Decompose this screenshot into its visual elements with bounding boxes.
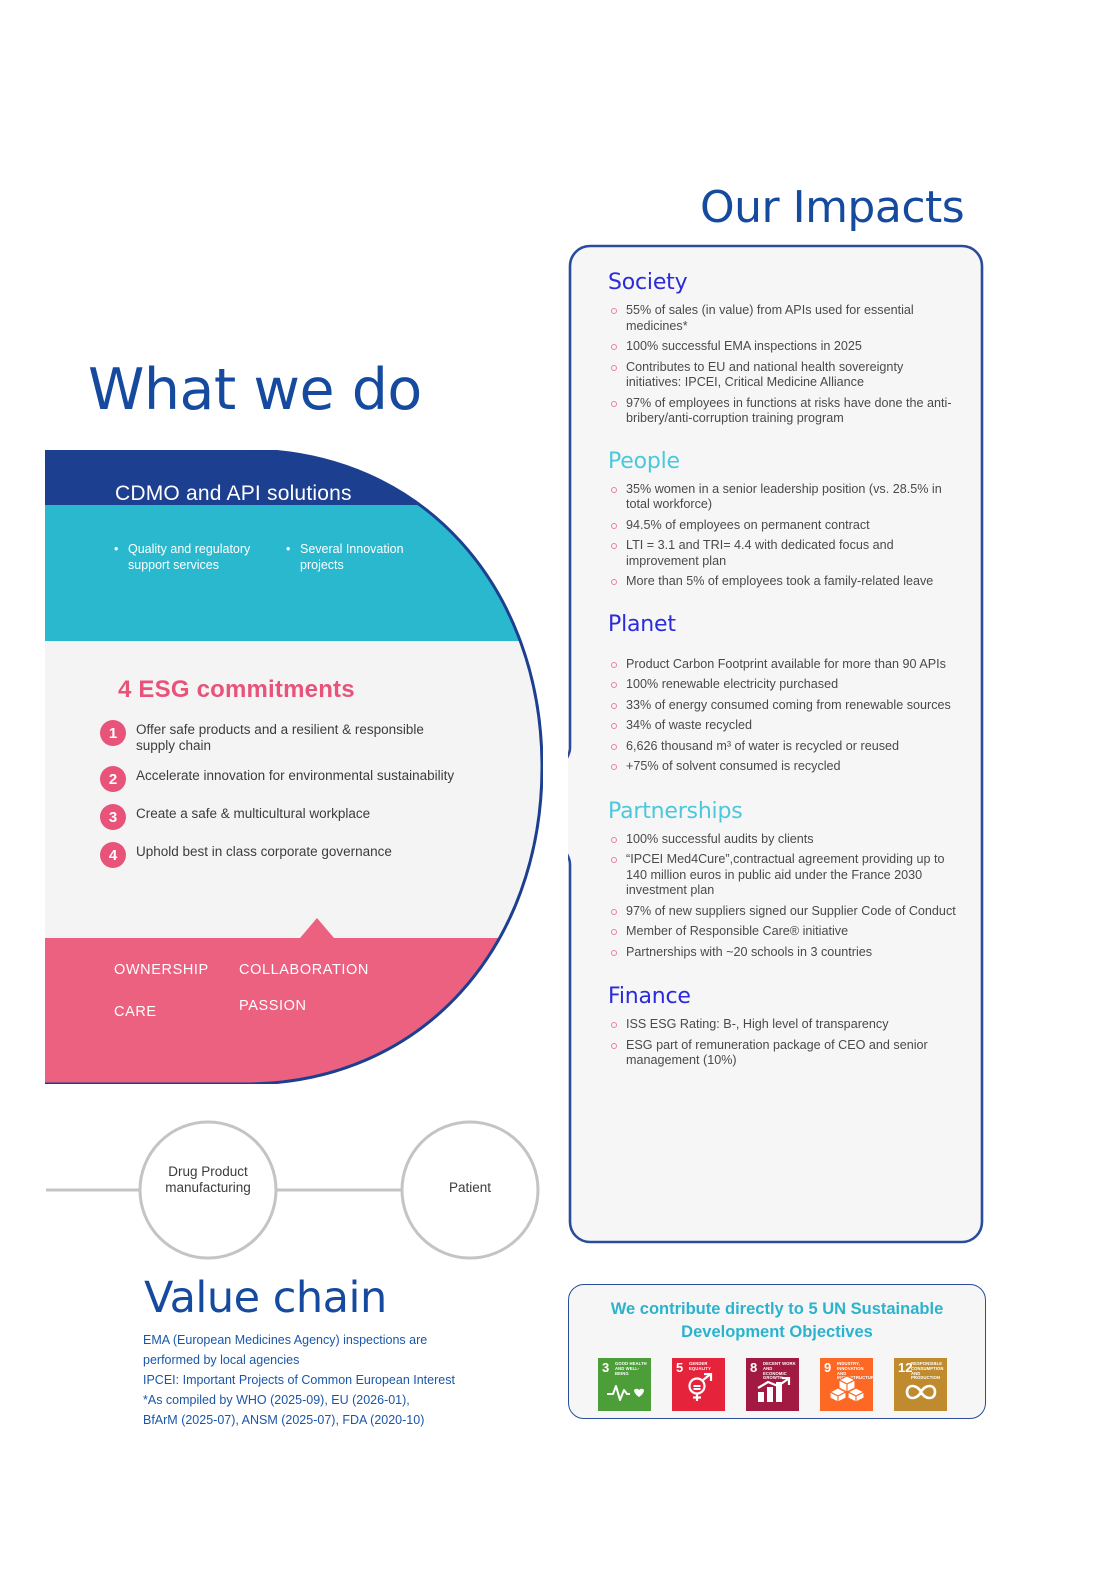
sdg-label: RESPONSIBLE CONSUMPTION AND PRODUCTION xyxy=(911,1362,945,1381)
list-item: Partnerships with ~20 schools in 3 count… xyxy=(608,945,960,961)
list-item: Member of Responsible Care® initiative xyxy=(608,924,960,940)
sdg-tile-12[interactable]: 12 RESPONSIBLE CONSUMPTION AND PRODUCTIO… xyxy=(894,1358,947,1411)
list-item: Product Carbon Footprint available for m… xyxy=(608,657,960,673)
footnote-line-4: *As compiled by WHO (2025-09), EU (2026-… xyxy=(143,1390,563,1410)
impact-section-people-heading: People xyxy=(608,449,960,474)
impact-section-finance-list: ISS ESG Rating: B-, High level of transp… xyxy=(608,1017,960,1069)
impact-section-people: People 35% women in a senior leadership … xyxy=(608,449,960,590)
list-item: ISS ESG Rating: B-, High level of transp… xyxy=(608,1017,960,1033)
esg-item-3-label: Create a safe & multicultural workplace xyxy=(136,804,370,822)
list-item: 94.5% of employees on permanent contract xyxy=(608,518,960,534)
shape-teal-band xyxy=(45,505,543,641)
list-item: More than 5% of employees took a family-… xyxy=(608,574,960,590)
footnote-line-3: IPCEI: Important Projects of Common Euro… xyxy=(143,1370,563,1390)
impact-section-society-list: 55% of sales (in value) from APIs used f… xyxy=(608,303,960,427)
esg-item-2: 2 Accelerate innovation for environmenta… xyxy=(100,766,460,792)
list-item: 55% of sales (in value) from APIs used f… xyxy=(608,303,960,334)
list-item: +75% of solvent consumed is recycled xyxy=(608,759,960,775)
impact-section-planet-list: Product Carbon Footprint available for m… xyxy=(608,657,960,775)
footnote-line-2: performed by local agencies xyxy=(143,1350,563,1370)
esg-commitments-block: 4 ESG commitments 1 Offer safe products … xyxy=(100,676,460,880)
footnote-line-1: EMA (European Medicines Agency) inspecti… xyxy=(143,1330,563,1350)
page-title-value-chain: Value chain xyxy=(144,1272,387,1324)
impact-section-partnerships-heading: Partnerships xyxy=(608,799,960,824)
esg-item-3: 3 Create a safe & multicultural workplac… xyxy=(100,804,460,830)
esg-number-badge: 3 xyxy=(100,804,126,830)
footnotes: EMA (European Medicines Agency) inspecti… xyxy=(143,1330,563,1430)
esg-heading: 4 ESG commitments xyxy=(118,676,460,704)
sdg-panel-title: We contribute directly to 5 UN Sustainab… xyxy=(590,1298,964,1344)
footnote-line-5: BfArM (2025-07), ANSM (2025-07), FDA (20… xyxy=(143,1410,563,1430)
value-word-care: CARE xyxy=(114,1004,157,1020)
impacts-content: Society 55% of sales (in value) from API… xyxy=(608,270,960,1087)
list-item: “IPCEI Med4Cure”,contractual agreement p… xyxy=(608,852,960,899)
list-item: ESG part of remuneration package of CEO … xyxy=(608,1038,960,1069)
list-item: 97% of new suppliers signed our Supplier… xyxy=(608,904,960,920)
page-title-our-impacts: Our Impacts xyxy=(700,182,964,234)
cdmo-bullet-2: • Several Innovation projects xyxy=(300,541,430,573)
cdmo-title: CDMO and API solutions xyxy=(115,482,352,506)
value-chain-node-patient-label: Patient xyxy=(410,1180,530,1196)
list-item: LTI = 3.1 and TRI= 4.4 with dedicated fo… xyxy=(608,538,960,569)
list-item: 100% successful EMA inspections in 2025 xyxy=(608,339,960,355)
value-chain-node-drug-product-label: Drug Product manufacturing xyxy=(148,1164,268,1196)
esg-number-badge: 1 xyxy=(100,720,126,746)
esg-number-badge: 2 xyxy=(100,766,126,792)
sdg-tile-3[interactable]: 3 GOOD HEALTH AND WELL-BEING xyxy=(598,1358,651,1411)
impact-section-planet-heading: Planet xyxy=(608,612,960,637)
list-item: Contributes to EU and national health so… xyxy=(608,360,960,391)
impact-section-planet: Planet Product Carbon Footprint availabl… xyxy=(608,612,960,775)
value-word-passion: PASSION xyxy=(239,998,307,1014)
growth-chart-icon xyxy=(746,1377,799,1408)
sdg-number: 9 xyxy=(824,1361,831,1374)
infinity-icon xyxy=(894,1381,947,1408)
sdg-tiles: 3 GOOD HEALTH AND WELL-BEING 5 GENDER EQ… xyxy=(598,1358,947,1411)
impact-section-people-list: 35% women in a senior leadership positio… xyxy=(608,482,960,590)
list-item: 34% of waste recycled xyxy=(608,718,960,734)
cdmo-bullet-1: • Quality and regulatory support service… xyxy=(128,541,278,573)
list-item: 35% women in a senior leadership positio… xyxy=(608,482,960,513)
list-item: 100% successful audits by clients xyxy=(608,832,960,848)
gender-equality-icon xyxy=(672,1373,725,1408)
cubes-icon xyxy=(820,1375,873,1408)
sdg-tile-8[interactable]: 8 DECENT WORK AND ECONOMIC GROWTH xyxy=(746,1358,799,1411)
bullet-dot-icon: • xyxy=(114,541,118,557)
sdg-number: 3 xyxy=(602,1361,609,1374)
esg-item-2-label: Accelerate innovation for environmental … xyxy=(136,766,454,784)
list-item: 97% of employees in functions at risks h… xyxy=(608,396,960,427)
cdmo-bullet-1-label: Quality and regulatory support services xyxy=(128,542,250,572)
sdg-tile-9[interactable]: 9 INDUSTRY, INNOVATION AND INFRASTRUCTUR… xyxy=(820,1358,873,1411)
esg-item-1: 1 Offer safe products and a resilient & … xyxy=(100,720,460,754)
esg-item-4-label: Uphold best in class corporate governanc… xyxy=(136,842,392,860)
impact-section-finance-heading: Finance xyxy=(608,984,960,1009)
impact-section-partnerships-list: 100% successful audits by clients “IPCEI… xyxy=(608,832,960,961)
cdmo-bullet-2-label: Several Innovation projects xyxy=(300,542,404,572)
sdg-label: GOOD HEALTH AND WELL-BEING xyxy=(615,1362,649,1376)
impact-section-society: Society 55% of sales (in value) from API… xyxy=(608,270,960,427)
impact-section-finance: Finance ISS ESG Rating: B-, High level o… xyxy=(608,984,960,1069)
heartbeat-icon xyxy=(598,1381,651,1408)
list-item: 100% renewable electricity purchased xyxy=(608,677,960,693)
value-word-ownership: OWNERSHIP xyxy=(114,962,209,978)
esg-item-1-label: Offer safe products and a resilient & re… xyxy=(136,720,460,754)
bullet-dot-icon: • xyxy=(286,541,290,557)
impact-section-partnerships: Partnerships 100% successful audits by c… xyxy=(608,799,960,961)
list-item: 6,626 thousand m³ of water is recycled o… xyxy=(608,739,960,755)
sdg-number: 8 xyxy=(750,1361,757,1374)
impact-section-society-heading: Society xyxy=(608,270,960,295)
list-item: 33% of energy consumed coming from renew… xyxy=(608,698,960,714)
esg-item-4: 4 Uphold best in class corporate governa… xyxy=(100,842,460,868)
sdg-label: GENDER EQUALITY xyxy=(689,1362,723,1372)
esg-number-badge: 4 xyxy=(100,842,126,868)
value-word-collaboration: COLLABORATION xyxy=(239,962,369,978)
page-title-what-we-do: What we do xyxy=(88,358,422,422)
sdg-tile-5[interactable]: 5 GENDER EQUALITY xyxy=(672,1358,725,1411)
